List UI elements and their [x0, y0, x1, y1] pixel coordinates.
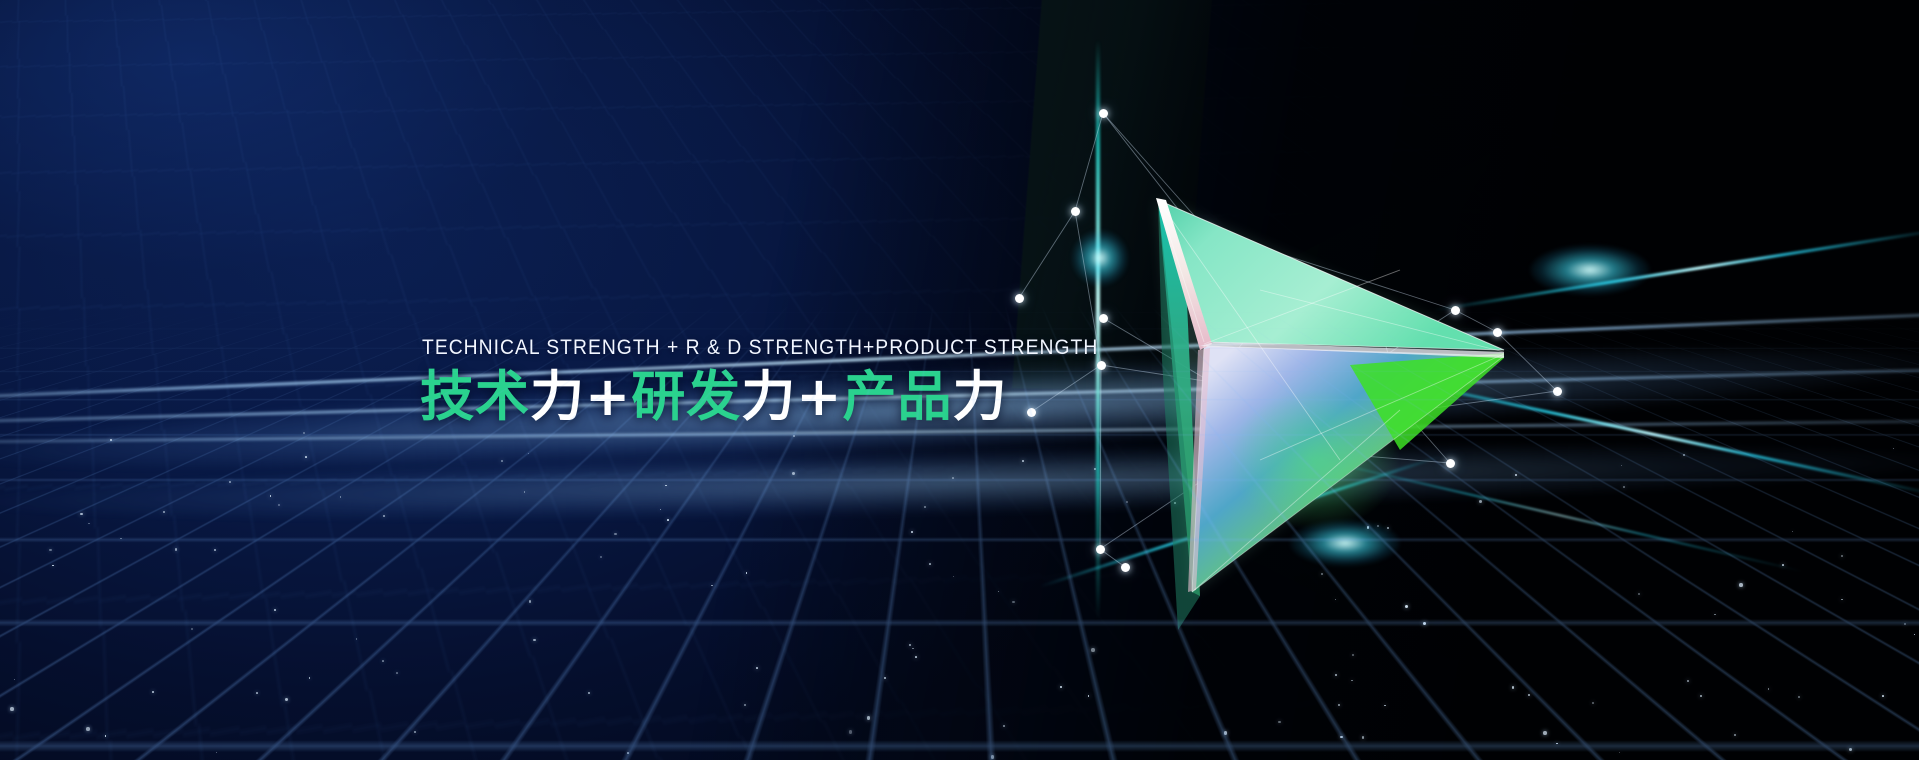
page-title: 技术力+研发力+产品力: [420, 369, 1157, 425]
headline-part-4: 力: [741, 365, 796, 428]
headline-part-3: 研发: [631, 365, 741, 428]
network-node-18: [1015, 294, 1024, 303]
hero-banner: TECHNICAL STRENGTH + R & D STRENGTH+PROD…: [0, 0, 1919, 760]
eyebrow-text: TECHNICAL STRENGTH + R & D STRENGTH+PROD…: [422, 336, 1098, 360]
arrow-lower-blob: [1230, 390, 1400, 530]
headline-block: TECHNICAL STRENGTH + R & D STRENGTH+PROD…: [420, 336, 1157, 425]
headline-part-7: 力: [953, 365, 1008, 428]
network-node-0: [1099, 109, 1108, 118]
headline-part-6: 产品: [843, 365, 953, 428]
headline-part-0: 技术: [420, 365, 530, 428]
arrow-triangle-logo: [1100, 160, 1600, 630]
headline-part-2: +: [585, 365, 631, 428]
network-node-1: [1071, 207, 1080, 216]
headline-part-5: +: [796, 365, 842, 428]
headline-part-1: 力: [530, 365, 585, 428]
